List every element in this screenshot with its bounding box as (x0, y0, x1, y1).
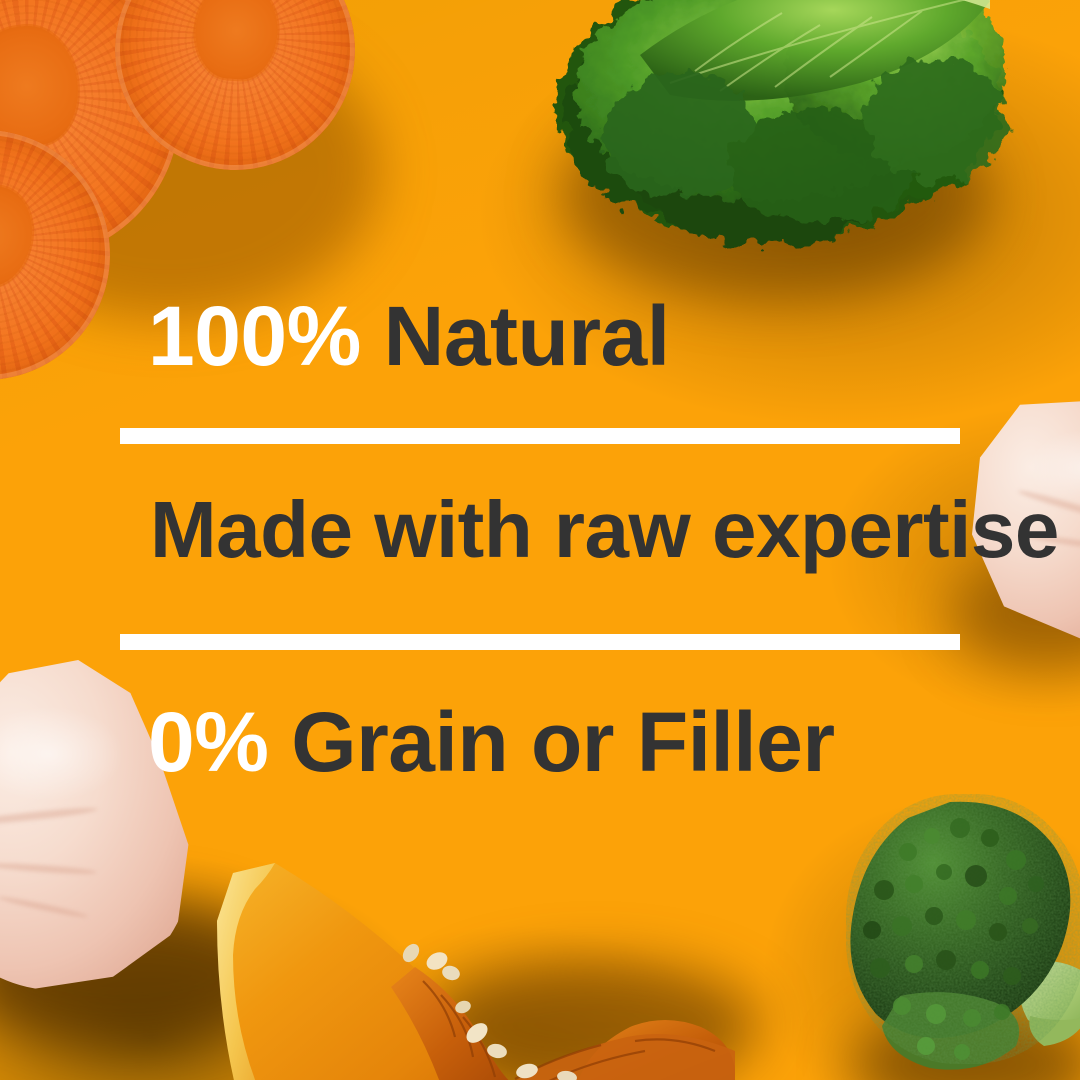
claim-natural-highlight: 100% (148, 289, 361, 383)
divider-top (120, 428, 960, 444)
claim-expertise-label: Made with raw expertise (150, 485, 1059, 574)
claim-grain-label: Grain or Filler (268, 695, 834, 789)
divider-bottom (120, 634, 960, 650)
promo-banner: 100% Natural Made with raw expertise 0% … (0, 0, 1080, 1080)
claim-natural-label: Natural (361, 289, 670, 383)
claim-natural: 100% Natural (148, 294, 670, 378)
claims-block: 100% Natural Made with raw expertise 0% … (0, 0, 1080, 1080)
claim-grain-highlight: 0% (148, 695, 268, 789)
claim-expertise: Made with raw expertise (150, 490, 1059, 570)
claim-grain: 0% Grain or Filler (148, 700, 835, 784)
